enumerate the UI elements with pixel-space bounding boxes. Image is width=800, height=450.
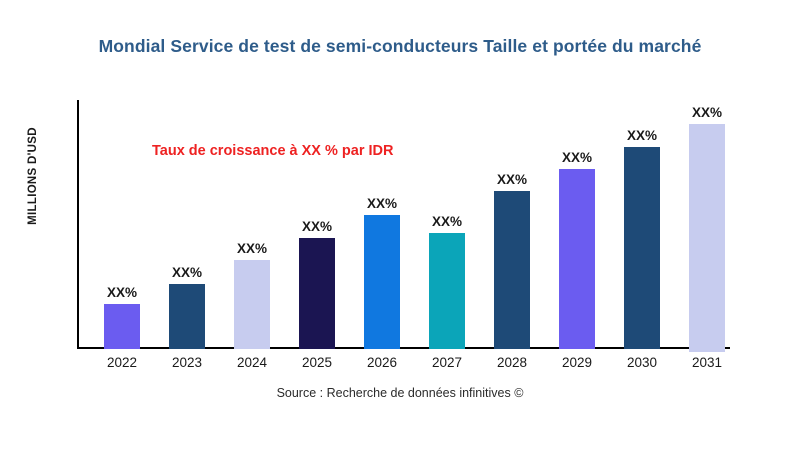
bar-2025[interactable] [299, 238, 335, 349]
bar-2022[interactable] [104, 304, 140, 349]
x-tick-2030: 2030 [607, 355, 677, 370]
bar-2024[interactable] [234, 260, 270, 349]
bar-group-2024: XX% [234, 260, 270, 349]
x-tick-2024: 2024 [217, 355, 287, 370]
bar-value-label: XX% [367, 196, 397, 211]
x-tick-2022: 2022 [87, 355, 157, 370]
x-tick-2028: 2028 [477, 355, 547, 370]
chart-figure: Mondial Service de test de semi-conducte… [0, 0, 800, 450]
x-tick-2027: 2027 [412, 355, 482, 370]
bar-value-label: XX% [497, 172, 527, 187]
plot-area: XX% XX% XX% XX% XX% XX% XX% XX% [0, 0, 800, 450]
bar-value-label: XX% [432, 214, 462, 229]
bar-group-2028: XX% [494, 191, 530, 349]
bar-group-2025: XX% [299, 238, 335, 349]
x-tick-2031: 2031 [672, 355, 742, 370]
source-caption: Source : Recherche de données infinitive… [0, 386, 800, 400]
bar-group-2030: XX% [624, 147, 660, 349]
bar-group-2026: XX% [364, 215, 400, 349]
bar-value-label: XX% [692, 105, 722, 120]
bar-value-label: XX% [237, 241, 267, 256]
bar-2027[interactable] [429, 233, 465, 349]
bar-group-2023: XX% [169, 284, 205, 349]
x-tick-2023: 2023 [152, 355, 222, 370]
bar-group-2022: XX% [104, 304, 140, 349]
bar-group-2029: XX% [559, 169, 595, 349]
bar-value-label: XX% [302, 219, 332, 234]
bar-2028[interactable] [494, 191, 530, 349]
bar-value-label: XX% [562, 150, 592, 165]
bar-2029[interactable] [559, 169, 595, 349]
bar-2023[interactable] [169, 284, 205, 349]
x-tick-2029: 2029 [542, 355, 612, 370]
bar-2026[interactable] [364, 215, 400, 349]
bar-2030[interactable] [624, 147, 660, 349]
x-tick-2025: 2025 [282, 355, 352, 370]
bar-2031[interactable] [689, 124, 725, 352]
bar-value-label: XX% [107, 285, 137, 300]
bar-group-2031: XX% [689, 124, 725, 352]
bar-group-2027: XX% [429, 233, 465, 349]
x-tick-2026: 2026 [347, 355, 417, 370]
bar-value-label: XX% [172, 265, 202, 280]
bar-value-label: XX% [627, 128, 657, 143]
